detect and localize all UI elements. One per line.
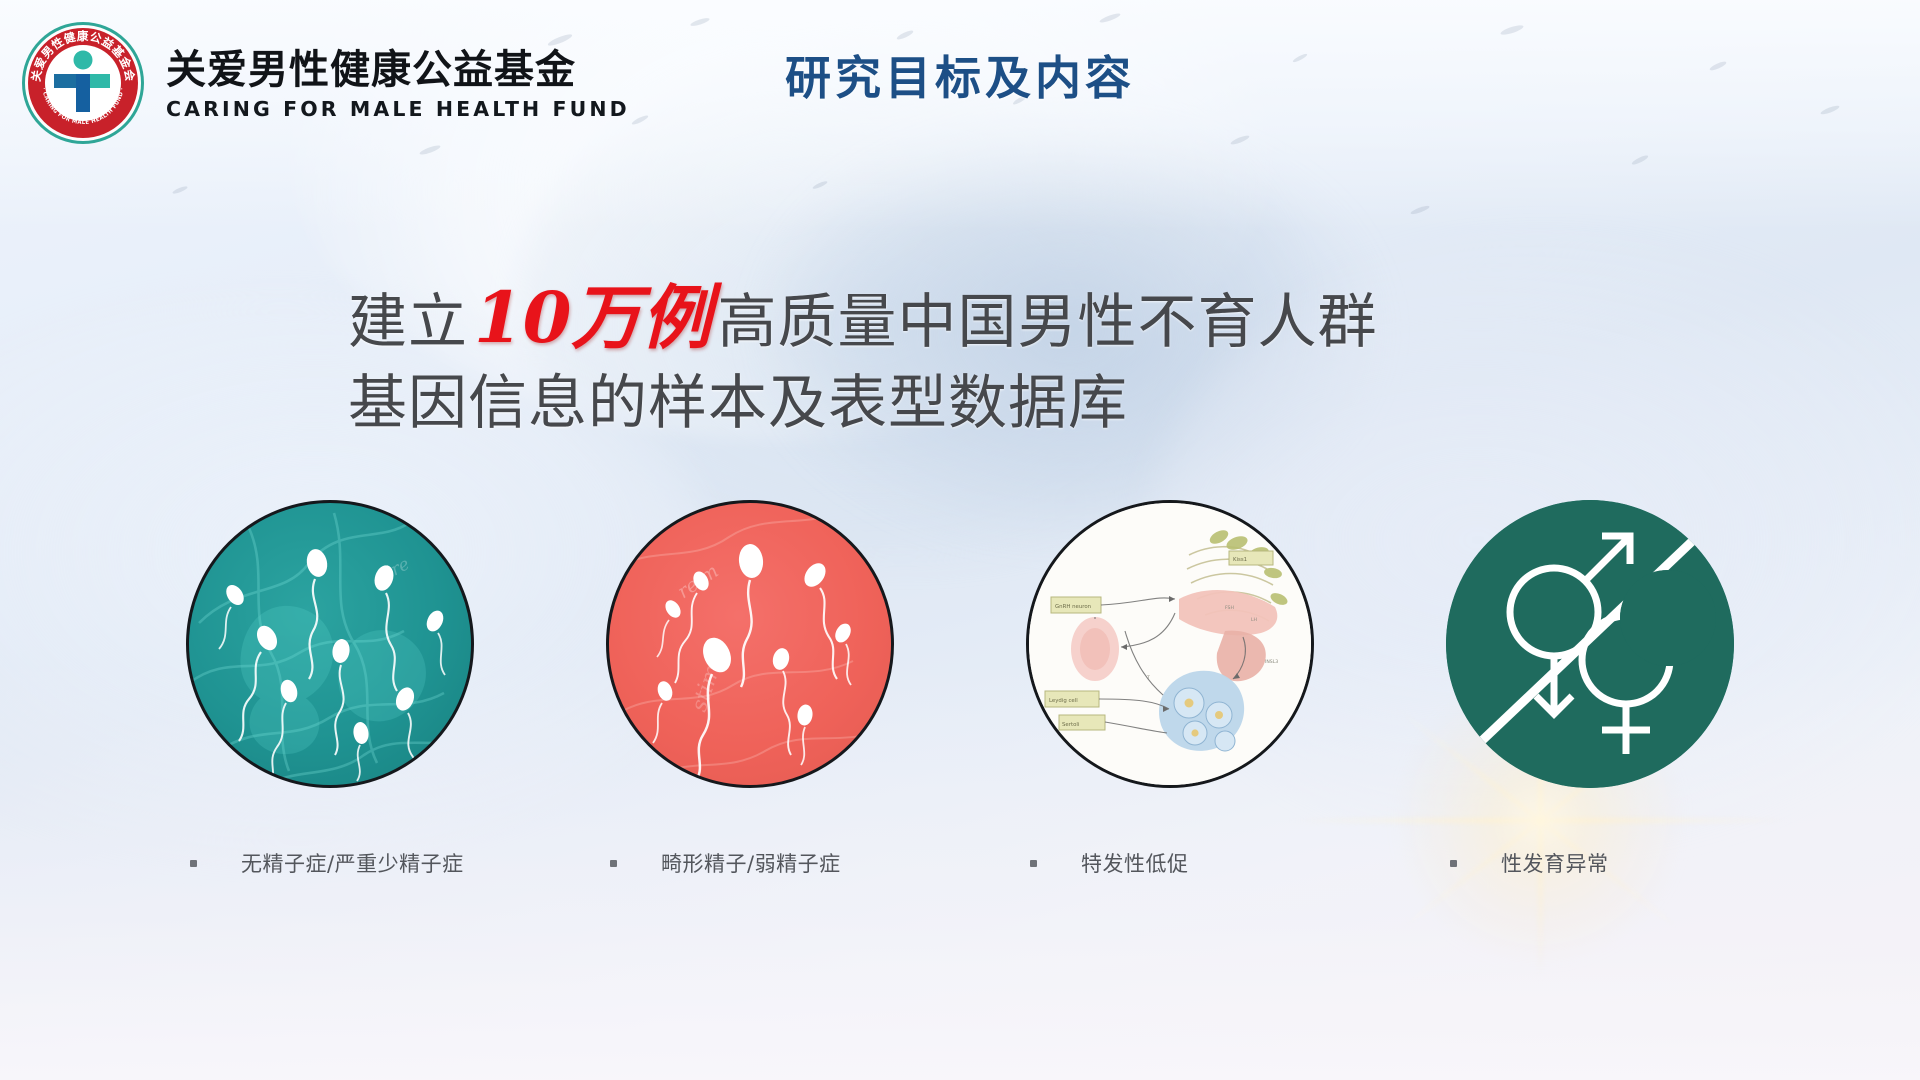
square-bullet-icon (1030, 860, 1037, 867)
category-item-idiopathic-hypogonadotropic[interactable]: GnRH neuron Leydig cell Sertoli Kiss1 (1020, 500, 1320, 788)
svg-text:Kiss1: Kiss1 (1233, 557, 1247, 563)
watermark-text-coral-2: stim (687, 661, 726, 714)
slide-header: 关爱男性健康公益基金会 · CARING FOR MALE HEALTH FUN… (0, 0, 1920, 170)
watermark-text-coral: reim (673, 560, 722, 603)
svg-text:Sertoli: Sertoli (1062, 722, 1079, 728)
label-item-idiopathic-hypogonadotropic: 特发性低促 (1020, 848, 1320, 878)
category-label: 性发育异常 (1501, 848, 1609, 878)
sperm-micrograph-teal-image: dre (186, 500, 474, 788)
category-label: 畸形精子/弱精子症 (661, 848, 841, 878)
hpg-axis-diagram-svg: GnRH neuron Leydig cell Sertoli Kiss1 (1029, 503, 1314, 788)
headline-line-2: 基因信息的样本及表型数据库 (348, 364, 1377, 442)
category-item-disorders-of-sex-development[interactable] (1440, 500, 1740, 788)
headline-block: 建立10万例高质量中国男性不育人群 基因信息的样本及表型数据库 (348, 272, 1377, 442)
sperm-9 (352, 721, 370, 781)
svg-text:FSH: FSH (1225, 605, 1234, 611)
sperm-8 (423, 608, 446, 675)
headline-accent-number: 10万例 (468, 276, 717, 359)
label-item-disorders-of-sex-development: 性发育异常 (1440, 848, 1740, 878)
svg-text:LH: LH (1251, 617, 1257, 623)
label-item-azoospermia: 无精子症/严重少精子症 (180, 848, 480, 878)
sperm-c5 (771, 646, 792, 755)
category-label: 无精子症/严重少精子症 (241, 848, 464, 878)
svg-text:GnRH neuron: GnRH neuron (1055, 604, 1091, 610)
svg-text:T: T (1146, 675, 1150, 681)
gender-symbols-crossed-out-image (1446, 500, 1734, 788)
square-bullet-icon (1450, 860, 1457, 867)
sperm-c8 (796, 704, 814, 765)
headline-line-1: 建立10万例高质量中国男性不育人群 (348, 272, 1377, 364)
sperm-cells-teal-svg: dre (189, 503, 474, 788)
slide-canvas: 关爱男性健康公益基金会 · CARING FOR MALE HEALTH FUN… (0, 0, 1920, 1080)
sperm-micrograph-coral-image: reim stim (606, 500, 894, 788)
category-item-teratozoospermia[interactable]: reim stim (600, 500, 900, 788)
sperm-c2 (737, 543, 764, 687)
sperm-cells-coral-svg: reim stim (609, 503, 894, 788)
sperm-7 (219, 582, 247, 649)
svg-text:Leydig cell: Leydig cell (1049, 698, 1078, 704)
svg-text:INSL3: INSL3 (1265, 659, 1278, 665)
headline-suffix: 高质量中国男性不育人群 (717, 287, 1377, 356)
sperm-c3 (800, 559, 837, 679)
gender-symbols-svg (1446, 500, 1734, 788)
label-item-teratozoospermia: 畸形精子/弱精子症 (600, 848, 900, 878)
category-item-azoospermia[interactable]: dre (180, 500, 480, 788)
flare-ray-horizontal (1290, 818, 1790, 823)
hpg-axis-diagram-image: GnRH neuron Leydig cell Sertoli Kiss1 (1026, 500, 1314, 788)
square-bullet-icon (190, 860, 197, 867)
category-label: 特发性低促 (1081, 848, 1189, 878)
category-label-row: 无精子症/严重少精子症 畸形精子/弱精子症 特发性低促 性发育异常 (0, 848, 1920, 878)
category-image-row: dre (0, 500, 1920, 788)
square-bullet-icon (610, 860, 617, 867)
page-title: 研究目标及内容 (0, 42, 1920, 108)
headline-prefix: 建立 (348, 287, 468, 356)
sperm-c7 (653, 679, 675, 743)
